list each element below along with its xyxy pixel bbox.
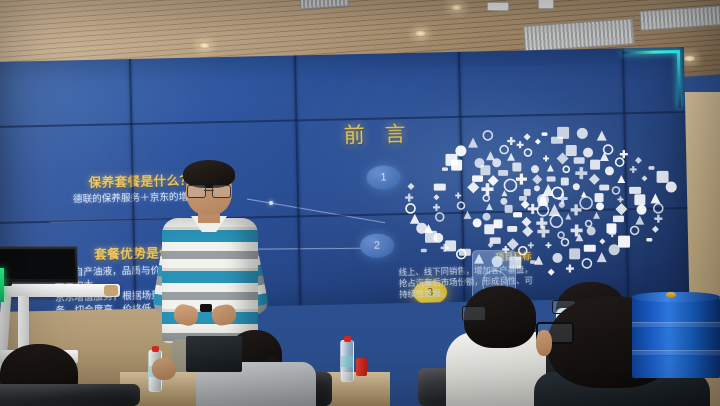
audience-ear	[536, 330, 552, 356]
clock-icon	[548, 204, 560, 216]
document-icon	[631, 226, 639, 234]
music-note-icon	[612, 187, 619, 194]
smiley-icon	[666, 182, 677, 193]
parking-icon	[609, 244, 620, 255]
drum-bung-cap-icon	[666, 292, 676, 298]
user-icon	[548, 269, 555, 276]
heart-icon	[416, 223, 427, 234]
sun-icon	[507, 238, 519, 250]
clock-icon	[552, 253, 562, 263]
camera-photo-icon	[648, 166, 654, 170]
music-note-icon	[483, 131, 492, 140]
headphones-icon	[571, 224, 583, 236]
downlight-icon	[198, 42, 211, 49]
facebook-icon	[521, 217, 531, 227]
power-icon	[522, 226, 533, 237]
upload-cloud-icon	[582, 259, 591, 268]
pen-icon	[617, 175, 625, 183]
presentation-room-photo: 前 言 保养套餐是什么？ 德联的保养服务＋京东的增值服务 套餐优势是什么？ 德联…	[0, 0, 720, 406]
lock-icon	[573, 183, 580, 190]
laptop-screen[interactable]	[0, 249, 75, 279]
power-icon	[436, 213, 444, 221]
location-pin-icon	[445, 240, 456, 251]
eyeglasses-icon	[462, 306, 486, 321]
bell-icon	[547, 176, 556, 181]
leaf-icon	[593, 212, 600, 219]
user-icon	[512, 162, 521, 171]
car-icon	[531, 165, 539, 173]
compass-icon	[484, 224, 494, 234]
camera-icon	[569, 248, 580, 259]
audience-hand	[152, 358, 176, 380]
play-icon	[537, 226, 549, 238]
envelope-icon	[425, 231, 437, 243]
star-icon	[586, 221, 592, 227]
laptop-lid	[0, 246, 78, 283]
gift-icon	[481, 183, 493, 195]
search-icon	[589, 174, 600, 185]
monitor-icon	[566, 145, 577, 156]
traffic-cone-icon	[604, 145, 613, 154]
compass-icon	[584, 245, 596, 252]
alarm-clock-icon	[599, 238, 605, 244]
drum-lid	[632, 292, 720, 302]
youtube-icon	[641, 175, 647, 181]
cart-icon	[629, 187, 641, 194]
presenter-remote-icon	[200, 304, 212, 312]
presenter-torso	[162, 218, 258, 343]
connector-line-3	[342, 307, 432, 312]
document-icon	[528, 242, 534, 248]
monitor-icon	[547, 165, 554, 172]
downlight-icon	[414, 30, 427, 37]
cloud-icon	[524, 149, 531, 156]
warning-icon	[575, 167, 587, 179]
upload-cloud-icon	[500, 146, 508, 154]
umbrella-icon	[563, 166, 569, 172]
bottle-icon	[587, 226, 596, 235]
airplane-icon	[410, 214, 420, 224]
cart-icon	[596, 202, 604, 210]
bottle-icon	[532, 174, 542, 184]
home-icon	[501, 190, 507, 196]
car-icon	[530, 260, 536, 264]
ceiling-speaker-icon	[538, 0, 554, 9]
traffic-cone-icon	[561, 239, 568, 246]
camera-icon	[473, 218, 482, 227]
eyeglasses-icon	[187, 185, 231, 196]
truck-icon	[498, 170, 508, 176]
umbrella-icon	[583, 148, 593, 158]
podium-end-cap	[104, 285, 118, 296]
chat-icon	[630, 166, 637, 173]
smiley-icon	[558, 232, 564, 238]
downlight-icon	[683, 55, 696, 62]
gift-icon	[486, 151, 495, 160]
play-icon	[650, 193, 660, 203]
bird-icon	[558, 193, 568, 203]
chat-icon	[599, 185, 609, 191]
suitcase-icon	[483, 213, 491, 221]
traffic-cone-icon	[561, 177, 569, 185]
gift-icon	[597, 252, 607, 262]
bird-icon	[543, 155, 549, 161]
bus-icon	[407, 183, 414, 190]
presenter-hair	[183, 160, 235, 188]
cloud-icon	[406, 204, 415, 213]
power-icon	[654, 204, 663, 213]
led-strip-icon	[0, 268, 4, 302]
heart-icon	[534, 185, 540, 191]
parking-icon	[483, 195, 489, 201]
parking-icon	[474, 158, 484, 168]
dollar-icon	[507, 226, 517, 232]
apple-icon	[467, 181, 479, 193]
behance-icon	[590, 160, 600, 170]
bird-icon	[405, 194, 413, 202]
audience-laptop	[186, 336, 242, 372]
lock-icon	[545, 242, 551, 248]
cocktail-icon	[494, 219, 503, 228]
bank-icon	[550, 215, 562, 227]
envelope-icon	[524, 189, 531, 196]
truck-icon	[566, 265, 574, 273]
bus-icon	[565, 213, 571, 219]
youtube-icon	[595, 193, 604, 202]
bottle-icon	[577, 128, 588, 139]
behance-icon	[445, 154, 457, 166]
headphones-icon	[635, 216, 644, 225]
briefcase-icon	[472, 175, 483, 181]
music-note-icon	[505, 205, 513, 213]
star-icon	[637, 205, 647, 215]
user-icon	[535, 139, 541, 145]
facebook-icon	[605, 166, 614, 175]
water-bottle-icon	[340, 340, 354, 382]
cocktail-icon	[652, 226, 659, 233]
dollar-icon	[433, 204, 440, 211]
lock-icon	[620, 150, 628, 158]
home-icon	[615, 203, 627, 215]
peace-icon	[557, 127, 569, 139]
suitcase-icon	[646, 238, 652, 242]
pen-icon	[513, 212, 522, 217]
ceiling-sensor-icon	[487, 2, 509, 11]
chair	[0, 384, 140, 406]
dollar-icon	[654, 215, 662, 223]
drum-rib	[632, 322, 720, 328]
restaurant-icon	[618, 236, 630, 248]
paperclip-icon	[458, 202, 465, 209]
linkedin-icon	[507, 137, 515, 145]
wifi-icon	[528, 204, 538, 214]
pen-icon	[468, 138, 478, 148]
airplane-icon	[507, 153, 515, 161]
oil-drum	[632, 296, 720, 378]
briefcase-icon	[519, 196, 527, 201]
bell-icon	[597, 131, 607, 141]
cocktail-icon	[433, 194, 439, 200]
book-icon	[635, 157, 642, 164]
lightbulb-icon	[542, 132, 548, 136]
facebook-icon	[455, 145, 466, 156]
location-pin-icon	[571, 204, 582, 215]
bank-icon	[442, 167, 448, 171]
home-icon	[524, 133, 531, 140]
peace-icon	[516, 174, 527, 185]
location-pin-icon	[657, 171, 669, 183]
drum-rib	[632, 350, 720, 356]
linkedin-icon	[617, 196, 623, 202]
briefcase-icon	[421, 249, 427, 253]
suitcase-icon	[434, 184, 446, 191]
search-icon	[616, 158, 624, 166]
camera-photo-icon	[580, 197, 592, 209]
upload-cloud-icon	[488, 175, 499, 186]
lightbulb-icon	[504, 179, 516, 191]
wifi-icon	[455, 192, 461, 198]
icon-cloud-graphic	[398, 118, 688, 298]
clock-icon	[463, 211, 471, 219]
wifi-icon	[519, 247, 527, 255]
beverage-can-icon	[356, 358, 367, 376]
bank-icon	[574, 157, 585, 163]
downlight-icon	[450, 4, 463, 11]
truck-icon	[517, 141, 524, 148]
leaf-icon	[634, 194, 645, 205]
restaurant-icon	[486, 203, 493, 210]
lightbulb-icon	[613, 216, 624, 222]
linkedin-icon	[500, 198, 507, 205]
paperclip-icon	[537, 205, 548, 216]
